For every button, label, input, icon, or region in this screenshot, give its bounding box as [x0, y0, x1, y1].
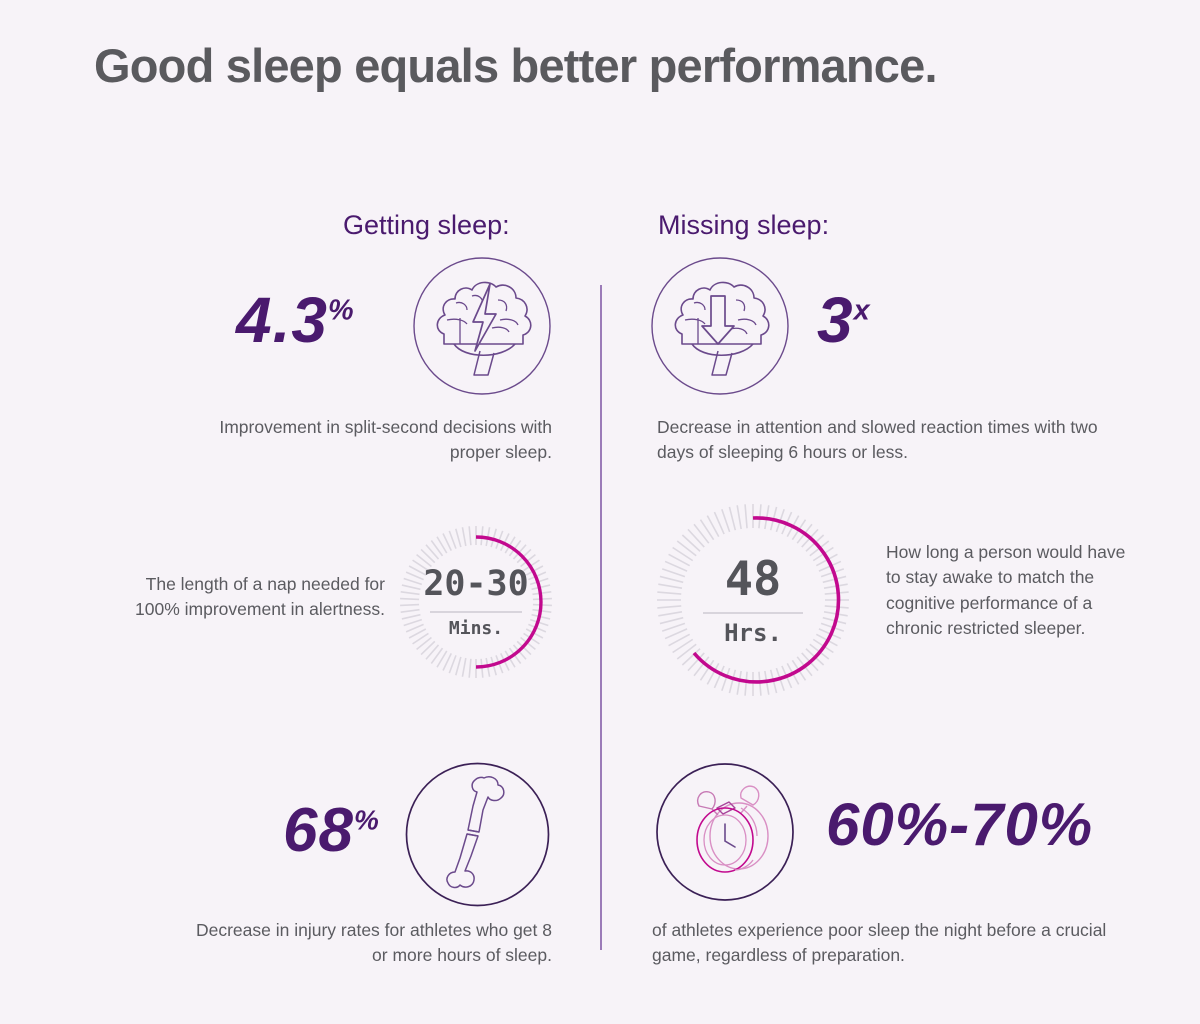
- caption-left-bottom: Decrease in injury rates for athletes wh…: [180, 918, 552, 969]
- caption-right-top: Decrease in attention and slowed reactio…: [657, 415, 1127, 466]
- broken-bone-icon: [405, 762, 550, 907]
- stat-value-right-bottom: 60%-70%: [826, 795, 1093, 855]
- awake-duration-gauge: 48 Hrs.: [648, 495, 858, 705]
- gauge-unit-nap: Mins.: [449, 620, 503, 638]
- stat-value-left-top: 4.3%: [236, 288, 355, 352]
- column-heading-getting-sleep: Getting sleep:: [343, 210, 510, 241]
- page-title: Good sleep equals better performance.: [94, 40, 1144, 92]
- brain-lightning-icon: [412, 256, 552, 396]
- caption-left-top: Improvement in split-second decisions wi…: [170, 415, 552, 466]
- stat-number: 68: [283, 796, 354, 865]
- stat-value-right-top: 3x: [817, 288, 871, 352]
- gauge-unit-awake: Hrs.: [724, 621, 782, 645]
- column-heading-missing-sleep: Missing sleep:: [658, 210, 829, 241]
- brain-down-arrow-icon: [650, 256, 790, 396]
- alarm-clock-icon: [655, 762, 795, 902]
- stat-number: 4.3: [236, 284, 328, 356]
- gauge-value-nap: 20-30: [423, 567, 528, 602]
- column-divider: [600, 285, 602, 950]
- stat-value-left-bottom: 68%: [283, 800, 380, 862]
- caption-right-bottom: of athletes experience poor sleep the ni…: [652, 918, 1142, 969]
- nap-duration-gauge: 20-30 Mins.: [392, 518, 560, 686]
- stat-suffix: x: [854, 295, 871, 327]
- caption-left-mid: The length of a nap needed for 100% impr…: [120, 572, 385, 623]
- stat-suffix: %: [328, 295, 355, 327]
- stat-suffix: %: [354, 804, 380, 835]
- caption-right-mid: How long a person would have to stay awa…: [886, 540, 1136, 642]
- infographic-canvas: Good sleep equals better performance. Ge…: [0, 0, 1200, 1024]
- stat-number: 3: [817, 284, 854, 356]
- gauge-value-awake: 48: [725, 556, 782, 603]
